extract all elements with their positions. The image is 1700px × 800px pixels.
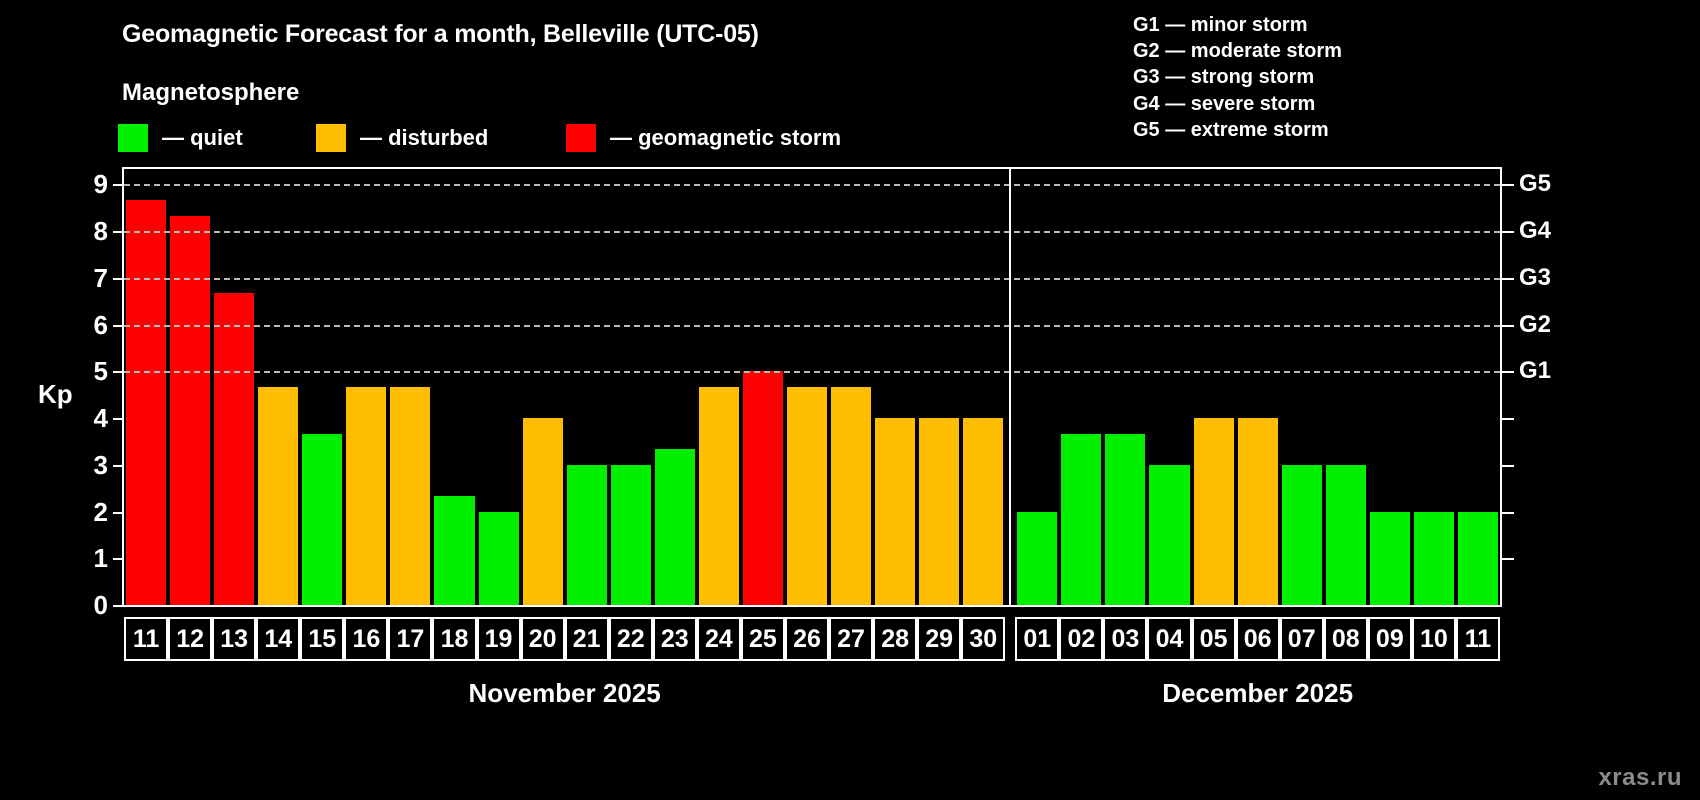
bar-day-19 — [479, 512, 519, 605]
g-axis-minor-tick-kp-2 — [1502, 512, 1514, 514]
bar-day-07 — [1282, 465, 1322, 605]
day-label-05[interactable]: 05 — [1192, 617, 1236, 661]
day-label-19[interactable]: 19 — [477, 617, 521, 661]
watermark: xras.ru — [1598, 764, 1682, 792]
bar-day-01 — [1017, 512, 1057, 605]
y-tick-label-1: 1 — [78, 545, 108, 571]
plot-area — [122, 167, 1502, 607]
bar-day-28 — [875, 418, 915, 605]
bar-day-26 — [787, 387, 827, 605]
day-label-23[interactable]: 23 — [653, 617, 697, 661]
day-label-09[interactable]: 09 — [1368, 617, 1412, 661]
g-tick-mark-G3 — [1502, 278, 1514, 280]
bar-day-11 — [126, 200, 166, 605]
day-label-10[interactable]: 10 — [1412, 617, 1456, 661]
month-caption-november: November 2025 — [415, 678, 715, 709]
g-axis-minor-tick-kp-1 — [1502, 558, 1514, 560]
day-label-28[interactable]: 28 — [873, 617, 917, 661]
day-label-11[interactable]: 11 — [124, 617, 168, 661]
storm-key-row-g3: G3 — strong storm — [1133, 64, 1342, 90]
g-tick-label-G5: G5 — [1519, 172, 1551, 196]
y-tick-label-6: 6 — [78, 312, 108, 338]
y-tick-label-0: 0 — [78, 592, 108, 618]
y-tick-mark-2 — [113, 512, 122, 514]
magnetosphere-label: Magnetosphere — [122, 79, 299, 107]
g-tick-mark-G1 — [1502, 371, 1514, 373]
bar-day-24 — [699, 387, 739, 605]
bar-day-06 — [1238, 418, 1278, 605]
y-tick-label-5: 5 — [78, 358, 108, 384]
gridline-kp-5 — [124, 371, 1500, 373]
y-tick-label-9: 9 — [78, 171, 108, 197]
day-label-04[interactable]: 04 — [1147, 617, 1191, 661]
bar-day-15 — [302, 434, 342, 606]
storm-scale-key: G1 — minor storm G2 — moderate storm G3 … — [1133, 12, 1342, 143]
bar-day-22 — [611, 465, 651, 605]
bar-day-08 — [1326, 465, 1366, 605]
legend-label-storm: — geomagnetic storm — [610, 125, 841, 151]
green-square-swatch — [118, 124, 148, 152]
day-label-03[interactable]: 03 — [1103, 617, 1147, 661]
y-tick-mark-8 — [113, 231, 122, 233]
y-tick-mark-3 — [113, 465, 122, 467]
day-label-15[interactable]: 15 — [300, 617, 344, 661]
day-label-30[interactable]: 30 — [961, 617, 1005, 661]
bar-day-29 — [919, 418, 959, 605]
day-label-11[interactable]: 11 — [1456, 617, 1500, 661]
g-tick-label-G1: G1 — [1519, 359, 1551, 383]
bar-day-18 — [434, 496, 474, 605]
g-axis-minor-tick-kp-3 — [1502, 465, 1514, 467]
y-tick-mark-9 — [113, 184, 122, 186]
bar-day-20 — [523, 418, 563, 605]
day-label-02[interactable]: 02 — [1059, 617, 1103, 661]
y-tick-label-7: 7 — [78, 265, 108, 291]
g-tick-mark-G4 — [1502, 231, 1514, 233]
bar-day-12 — [170, 216, 210, 605]
day-label-26[interactable]: 26 — [785, 617, 829, 661]
day-label-01[interactable]: 01 — [1015, 617, 1059, 661]
day-label-08[interactable]: 08 — [1324, 617, 1368, 661]
day-label-13[interactable]: 13 — [212, 617, 256, 661]
day-label-06[interactable]: 06 — [1236, 617, 1280, 661]
day-label-29[interactable]: 29 — [917, 617, 961, 661]
day-label-16[interactable]: 16 — [344, 617, 388, 661]
bar-day-13 — [214, 293, 254, 605]
bar-day-27 — [831, 387, 871, 605]
month-caption-december: December 2025 — [1108, 678, 1408, 709]
day-label-07[interactable]: 07 — [1280, 617, 1324, 661]
geomagnetic-forecast-chart: Geomagnetic Forecast for a month, Bellev… — [0, 0, 1700, 800]
g-tick-label-G2: G2 — [1519, 313, 1551, 337]
gridline-kp-6 — [124, 325, 1500, 327]
legend-label-quiet: — quiet — [162, 125, 243, 151]
gridline-kp-7 — [124, 278, 1500, 280]
storm-key-row-g2: G2 — moderate storm — [1133, 38, 1342, 64]
bar-day-04 — [1149, 465, 1189, 605]
day-label-27[interactable]: 27 — [829, 617, 873, 661]
legend-item-disturbed: — disturbed — [316, 123, 488, 153]
gridline-kp-8 — [124, 231, 1500, 233]
orange-square-swatch — [316, 124, 346, 152]
y-tick-mark-0 — [113, 605, 122, 607]
bar-day-02 — [1061, 434, 1101, 606]
red-square-swatch — [566, 124, 596, 152]
bar-day-16 — [346, 387, 386, 605]
page-title: Geomagnetic Forecast for a month, Bellev… — [122, 20, 759, 49]
y-tick-label-4: 4 — [78, 405, 108, 431]
day-label-22[interactable]: 22 — [609, 617, 653, 661]
day-label-25[interactable]: 25 — [741, 617, 785, 661]
y-tick-mark-1 — [113, 558, 122, 560]
storm-key-row-g4: G4 — severe storm — [1133, 91, 1342, 117]
bar-day-21 — [567, 465, 607, 605]
day-label-20[interactable]: 20 — [521, 617, 565, 661]
bar-day-14 — [258, 387, 298, 605]
bar-day-03 — [1105, 434, 1145, 606]
bar-day-25 — [743, 371, 783, 605]
gridline-kp-9 — [124, 184, 1500, 186]
storm-key-row-g1: G1 — minor storm — [1133, 12, 1342, 38]
storm-key-row-g5: G5 — extreme storm — [1133, 117, 1342, 143]
day-label-21[interactable]: 21 — [565, 617, 609, 661]
bar-day-30 — [963, 418, 1003, 605]
bar-day-23 — [655, 449, 695, 605]
y-tick-mark-7 — [113, 278, 122, 280]
bar-day-17 — [390, 387, 430, 605]
y-axis-title: Kp — [38, 379, 73, 410]
y-tick-label-2: 2 — [78, 499, 108, 525]
legend-label-disturbed: — disturbed — [360, 125, 488, 151]
g-tick-label-G3: G3 — [1519, 266, 1551, 290]
y-tick-mark-5 — [113, 371, 122, 373]
bar-series — [124, 169, 1500, 605]
month-divider — [1009, 169, 1011, 605]
y-tick-mark-4 — [113, 418, 122, 420]
g-tick-label-G4: G4 — [1519, 219, 1551, 243]
y-tick-label-8: 8 — [78, 218, 108, 244]
day-label-14[interactable]: 14 — [256, 617, 300, 661]
y-tick-mark-6 — [113, 325, 122, 327]
g-tick-mark-G5 — [1502, 184, 1514, 186]
day-label-12[interactable]: 12 — [168, 617, 212, 661]
day-label-24[interactable]: 24 — [697, 617, 741, 661]
day-label-17[interactable]: 17 — [388, 617, 432, 661]
legend-item-quiet: — quiet — [118, 123, 243, 153]
day-axis: 1112131415161718192021222324252627282930… — [122, 617, 1502, 661]
g-axis-minor-tick-kp-4 — [1502, 418, 1514, 420]
day-label-18[interactable]: 18 — [432, 617, 476, 661]
bar-day-05 — [1194, 418, 1234, 605]
legend-item-storm: — geomagnetic storm — [566, 123, 841, 153]
g-tick-mark-G2 — [1502, 325, 1514, 327]
bar-day-09 — [1370, 512, 1410, 605]
bar-day-11 — [1458, 512, 1498, 605]
y-tick-label-3: 3 — [78, 452, 108, 478]
bar-day-10 — [1414, 512, 1454, 605]
